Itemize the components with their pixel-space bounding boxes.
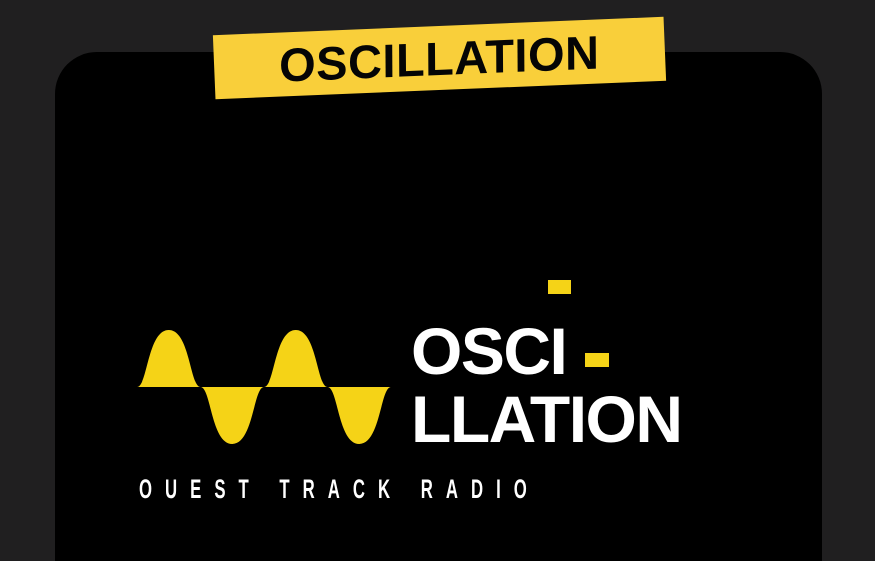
logo-card [55,52,822,561]
oscillation-logo-screen: OSCILLATION OSCI LLATION OUEST TRACK RAD… [0,0,875,561]
banner-label: OSCILLATION [279,28,600,88]
